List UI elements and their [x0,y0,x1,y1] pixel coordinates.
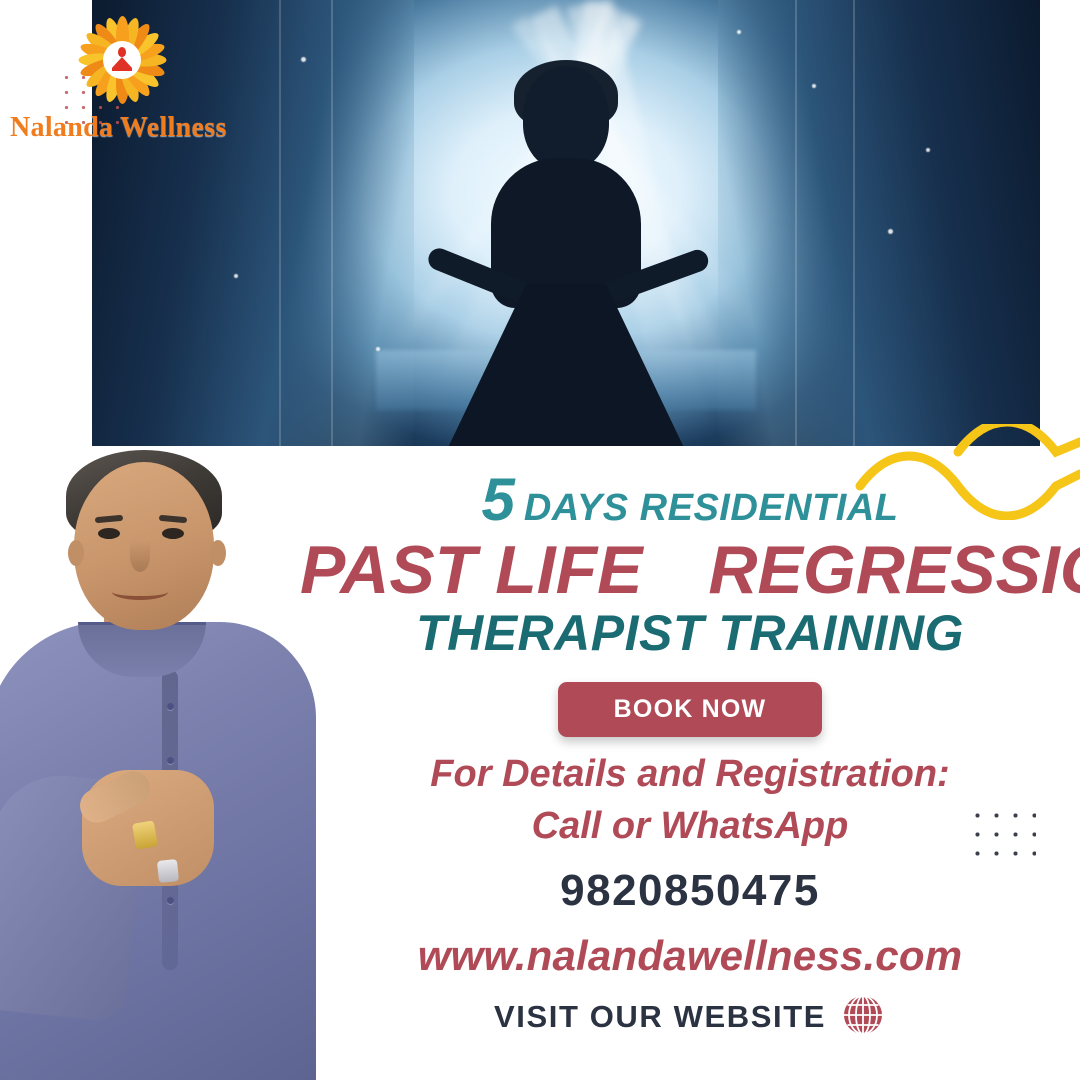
silhouette-head [523,66,609,170]
brand-name: Nalanda Wellness [10,112,242,144]
silhouette-dress [441,284,691,446]
speaker-eye [98,528,120,539]
registration-line-1: For Details and Registration: [300,753,1080,796]
globe-icon [840,992,886,1043]
speaker-eye [162,528,184,539]
speaker-smile [112,584,168,600]
woman-silhouette [401,66,731,426]
phone-number[interactable]: 9820850475 [300,866,1080,916]
brand-logo: Nalanda Wellness [6,8,246,158]
website-url[interactable]: www.nalandawellness.com [300,932,1080,980]
title-part-2: REGRESSION [708,532,1080,608]
meditation-figure-icon [111,47,133,73]
silver-ring [157,859,179,883]
eyebrow-line: 5 DAYS RESIDENTIAL [300,470,1080,530]
gold-ring [132,820,158,849]
page-subtitle: THERAPIST TRAINING [300,607,1080,660]
poster-canvas: Nalanda Wellness 5 [0,0,1080,1080]
visit-website-row[interactable]: VISIT OUR WEBSITE [300,992,1080,1043]
lotus-mandala-icon [78,16,166,104]
registration-line-2: Call or WhatsApp [300,805,1080,848]
title-part-1: PAST LIFE [300,532,643,608]
page-title: PAST LIFE REGRESSION [300,536,1080,605]
duration-number: 5 [481,470,513,530]
book-now-button[interactable]: BOOK NOW [558,682,823,737]
visit-website-label: VISIT OUR WEBSITE [494,999,826,1035]
content-block: 5 DAYS RESIDENTIAL PAST LIFE REGRESSION … [300,470,1080,1043]
curtain-right [718,0,1040,446]
duration-label: DAYS RESIDENTIAL [524,489,899,527]
speaker-photo [0,436,330,1080]
